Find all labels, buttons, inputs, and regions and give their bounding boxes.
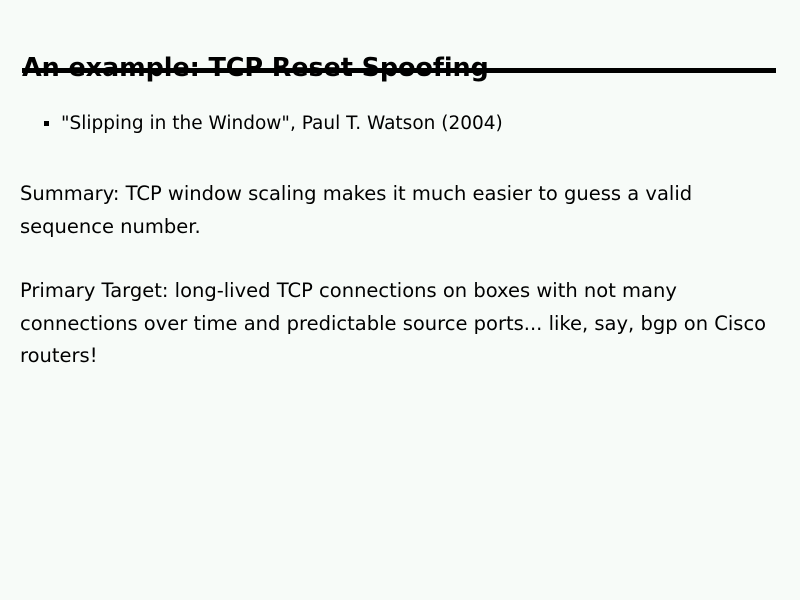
- summary-paragraph: Summary: TCP window scaling makes it muc…: [20, 178, 770, 243]
- square-bullet-icon: [44, 121, 49, 126]
- summary-line-1: Summary: TCP window scaling makes it muc…: [20, 178, 770, 211]
- summary-line-2: sequence number.: [20, 211, 770, 244]
- primary-target-paragraph: Primary Target: long-lived TCP connectio…: [20, 275, 770, 373]
- primary-target-line-1: Primary Target: long-lived TCP connectio…: [20, 275, 770, 308]
- title-underline-rule: [22, 68, 776, 73]
- list-item-label: "Slipping in the Window", Paul T. Watson…: [61, 113, 503, 134]
- primary-target-line-3: routers!: [20, 340, 770, 373]
- bullet-list: "Slipping in the Window", Paul T. Watson…: [44, 111, 764, 137]
- primary-target-line-2: connections over time and predictable so…: [20, 308, 770, 341]
- presentation-slide: An example: TCP Reset Spoofing "Slipping…: [0, 0, 800, 600]
- list-item: "Slipping in the Window", Paul T. Watson…: [44, 111, 764, 137]
